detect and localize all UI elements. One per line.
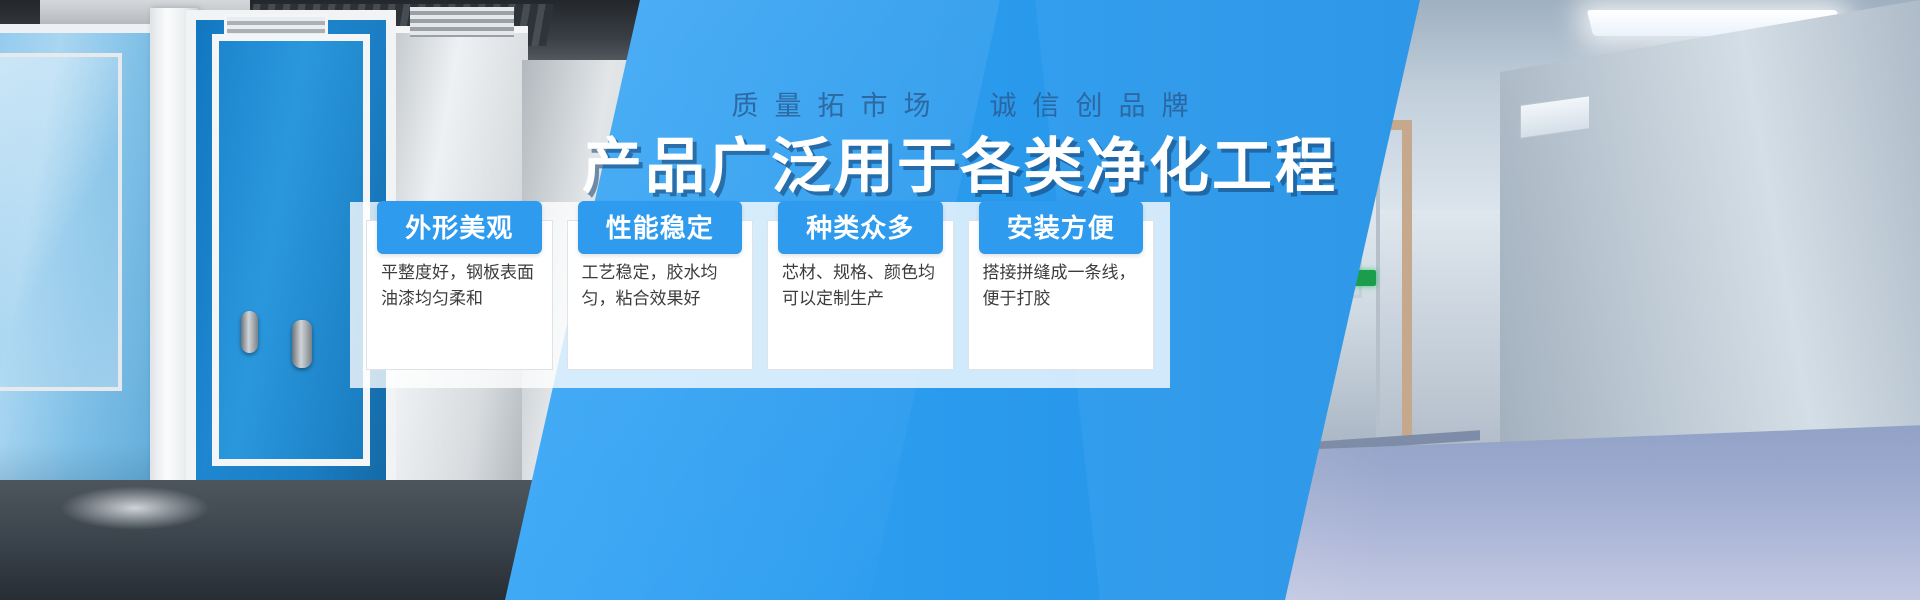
feature-card-1-body: 平整度好，钢板表面油漆均匀柔和 — [367, 260, 552, 313]
feature-card-1[interactable]: 外形美观 平整度好，钢板表面油漆均匀柔和 — [366, 220, 553, 370]
feature-card-2-body: 工艺稳定，胶水均匀，粘合效果好 — [568, 260, 753, 313]
feature-card-4-body: 搭接拼缝成一条线，便于打胶 — [969, 260, 1154, 313]
banner-content: 质量拓市场 诚信创品牌 产品广泛用于各类净化工程 外形美观 平整度好，钢板表面油… — [0, 0, 1920, 600]
banner-headline: 产品广泛用于各类净化工程 — [0, 118, 1920, 205]
feature-card-2-title: 性能稳定 — [578, 201, 743, 254]
feature-card-3-body: 芯材、规格、颜色均可以定制生产 — [768, 260, 953, 313]
feature-card-3-title: 种类众多 — [778, 201, 943, 254]
feature-card-3[interactable]: 种类众多 芯材、规格、颜色均可以定制生产 — [767, 220, 954, 370]
feature-card-1-title: 外形美观 — [377, 201, 542, 254]
promo-banner: 质量拓市场 诚信创品牌 产品广泛用于各类净化工程 外形美观 平整度好，钢板表面油… — [0, 0, 1920, 600]
feature-card-4[interactable]: 安装方便 搭接拼缝成一条线，便于打胶 — [968, 220, 1155, 370]
feature-card-2[interactable]: 性能稳定 工艺稳定，胶水均匀，粘合效果好 — [567, 220, 754, 370]
feature-card-4-title: 安装方便 — [979, 201, 1144, 254]
feature-cards-container: 外形美观 平整度好，钢板表面油漆均匀柔和 性能稳定 工艺稳定，胶水均匀，粘合效果… — [350, 202, 1170, 388]
